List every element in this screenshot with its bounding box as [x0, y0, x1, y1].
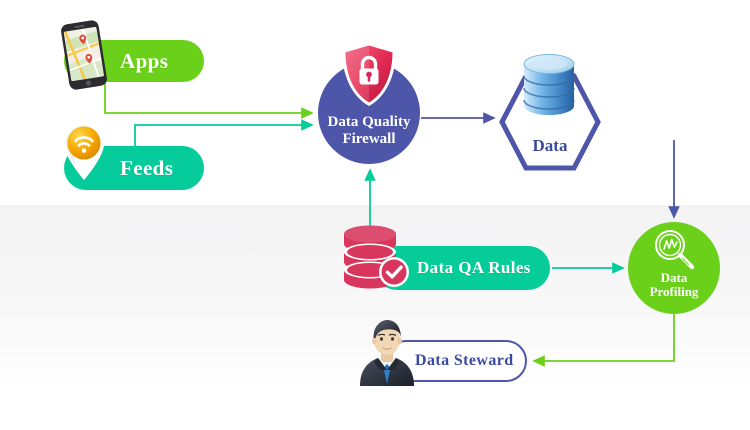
database-check-icon [340, 222, 416, 294]
edge-feeds-to-firewall [135, 125, 312, 146]
node-apps-label: Apps [120, 49, 168, 74]
node-qa-rules-label: Data QA Rules [417, 258, 531, 278]
node-feeds-label: Feeds [120, 156, 173, 181]
wifi-location-pin-icon [59, 122, 109, 182]
businessman-avatar-icon [356, 318, 418, 386]
shield-lock-icon [338, 40, 400, 108]
smartphone-map-icon [57, 18, 111, 92]
node-steward-label: Data Steward [415, 352, 514, 370]
edge-apps-to-firewall [105, 82, 312, 113]
node-data-label: Data [498, 136, 602, 156]
database-cylinder-icon [518, 52, 580, 118]
node-profiling-label: Data Profiling [650, 271, 699, 314]
node-firewall-label: Data Quality Firewall [328, 114, 411, 164]
edge-profiling-to-steward [534, 314, 674, 361]
magnifier-chart-icon [653, 228, 697, 272]
diagram-canvas: Apps [0, 0, 750, 430]
